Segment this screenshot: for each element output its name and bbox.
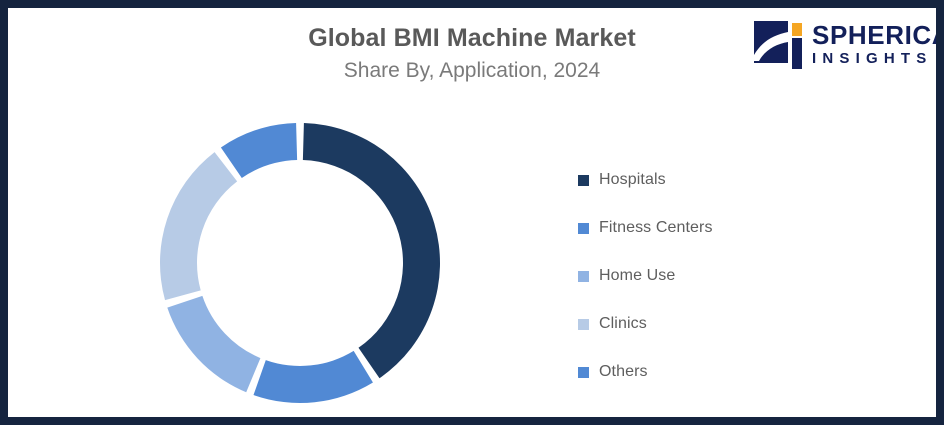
donut-slice[interactable] xyxy=(303,123,440,378)
donut-slice-group xyxy=(160,123,440,403)
legend-item[interactable]: Clinics xyxy=(578,300,828,348)
logo-word-insights: INSIGHTS xyxy=(812,49,944,68)
legend-item-label: Others xyxy=(599,363,648,381)
legend-item-label: Clinics xyxy=(599,315,647,333)
logo-mark-svg xyxy=(752,19,804,71)
legend-swatch-icon xyxy=(578,271,589,282)
chart-header: Global BMI Machine Market Share By, Appl… xyxy=(8,8,936,98)
legend-item[interactable]: Fitness Centers xyxy=(578,204,828,252)
brand-logo: SPHERICAL INSIGHTS xyxy=(752,14,927,76)
donut-slice[interactable] xyxy=(221,123,297,178)
legend-swatch-icon xyxy=(578,367,589,378)
donut-slice[interactable] xyxy=(253,351,372,403)
legend-swatch-icon xyxy=(578,319,589,330)
legend-item-label: Home Use xyxy=(599,267,675,285)
legend-swatch-icon xyxy=(578,175,589,186)
chart-card: Global BMI Machine Market Share By, Appl… xyxy=(0,0,944,425)
logo-word-spherical: SPHERICAL xyxy=(812,22,944,49)
legend-item-label: Hospitals xyxy=(599,171,666,189)
donut-chart xyxy=(152,115,448,411)
legend-item[interactable]: Others xyxy=(578,348,828,396)
chart-legend: HospitalsFitness CentersHome UseClinicsO… xyxy=(578,156,828,396)
legend-item[interactable]: Home Use xyxy=(578,252,828,300)
donut-chart-svg xyxy=(152,115,448,411)
logo-wordmark: SPHERICAL INSIGHTS xyxy=(812,22,944,68)
donut-slice[interactable] xyxy=(160,152,237,300)
donut-slice[interactable] xyxy=(167,296,260,392)
legend-swatch-icon xyxy=(578,223,589,234)
legend-item[interactable]: Hospitals xyxy=(578,156,828,204)
legend-item-label: Fitness Centers xyxy=(599,219,713,237)
spherical-logo-icon xyxy=(752,19,804,71)
